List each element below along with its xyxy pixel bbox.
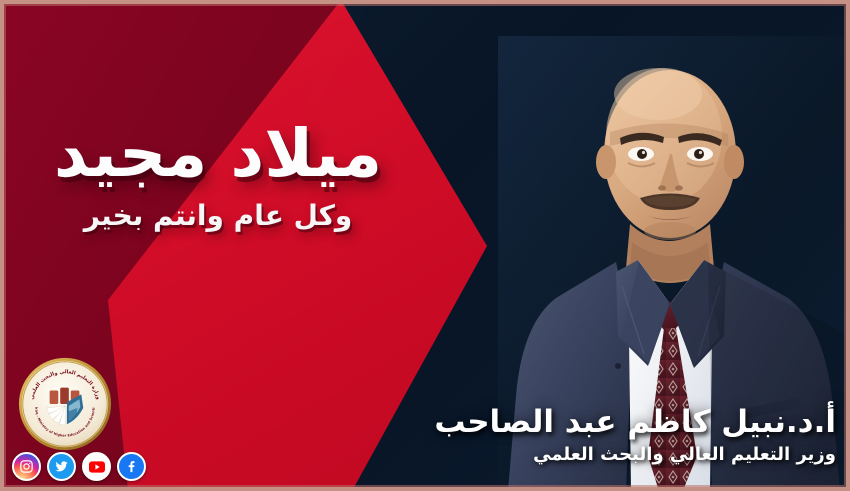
subheadline-text: وكل عام وانتم بخير (18, 199, 418, 232)
minister-name: أ.د.نبيل كاظم عبد الصاحب (434, 404, 836, 440)
facebook-icon[interactable] (117, 452, 146, 481)
youtube-icon[interactable] (82, 452, 111, 481)
greeting-banner: ميلاد مجيد وكل عام وانتم بخير أ.د.نبيل ك… (0, 0, 850, 491)
headline-block: ميلاد مجيد وكل عام وانتم بخير (18, 120, 418, 232)
social-links-bar[interactable] (12, 452, 146, 481)
twitter-icon[interactable] (47, 452, 76, 481)
minister-title: وزير التعليم العالي والبحث العلمي (434, 444, 836, 465)
instagram-icon[interactable] (12, 452, 41, 481)
headline-text: ميلاد مجيد (18, 120, 418, 187)
ministry-logo-icon: وزارة التعليم العالي والبحث العلمي Repub… (17, 356, 113, 452)
minister-name-block: أ.د.نبيل كاظم عبد الصاحب وزير التعليم ال… (434, 404, 836, 465)
